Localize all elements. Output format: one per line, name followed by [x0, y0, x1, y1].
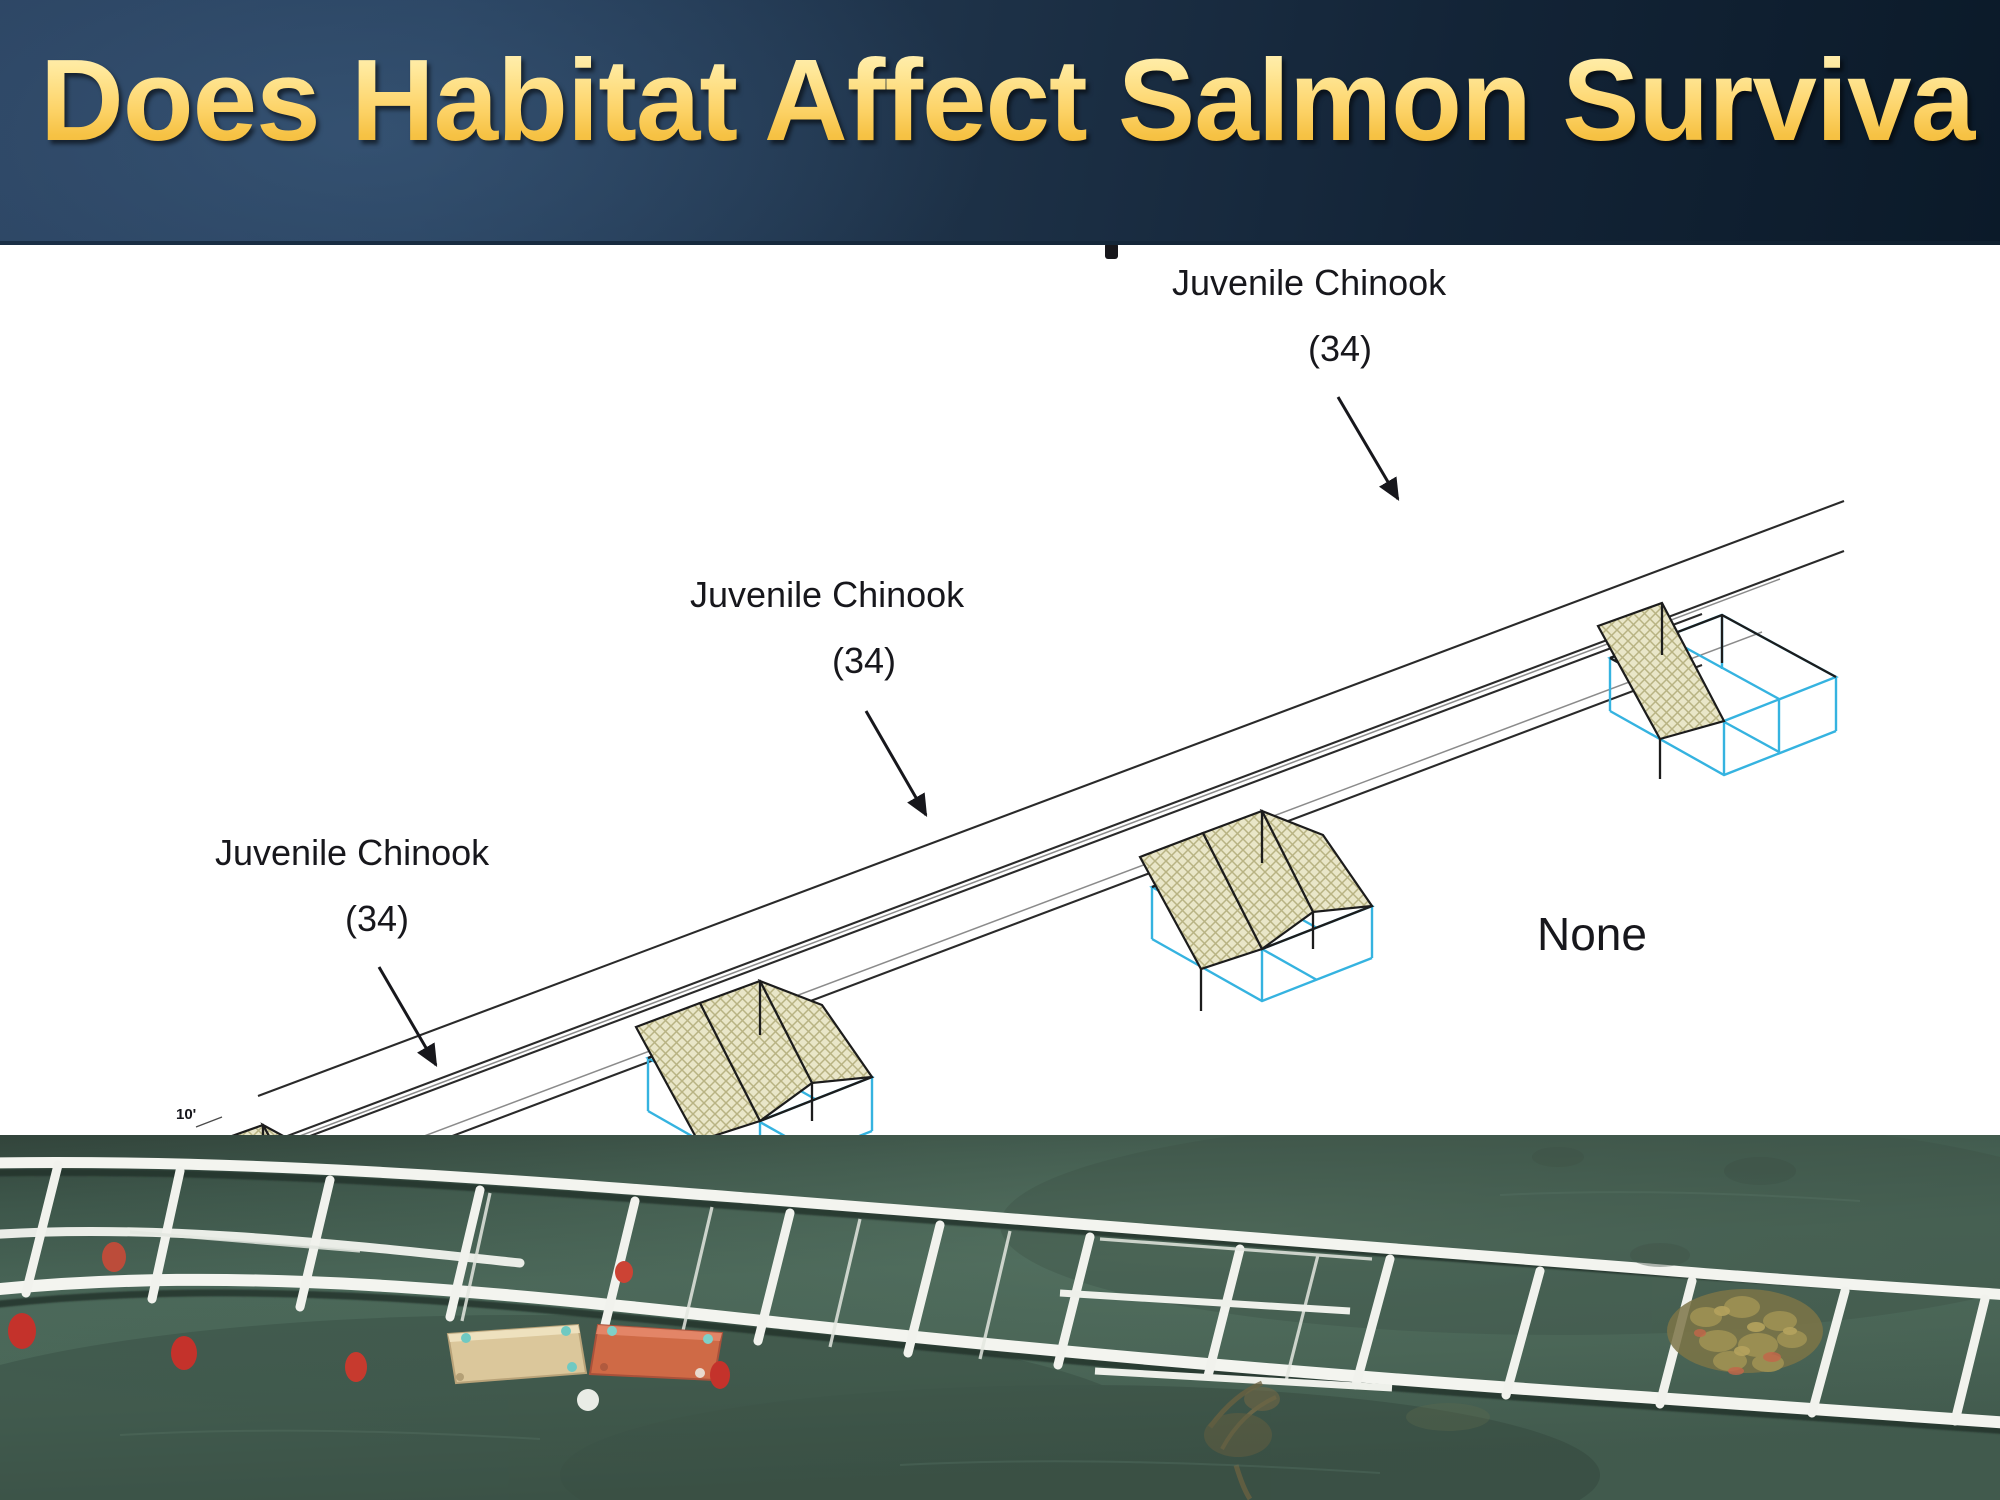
callout-right-arrow	[1338, 397, 1398, 499]
callout-middle-line2: (34)	[832, 640, 896, 681]
field-photo	[0, 1135, 2000, 1500]
callout-left-line2: (34)	[345, 898, 409, 939]
cage-middle-net-panels	[636, 981, 872, 1135]
dock-platform-tan	[448, 1325, 586, 1383]
dim-width-inner-label: 10'	[176, 1106, 196, 1123]
diagram-canvas: 10' 10' 4-5'	[0, 245, 2000, 1135]
float-ball	[577, 1389, 599, 1411]
dock-platform-orange	[590, 1325, 722, 1380]
callout-left: Juvenile Chinook (34)	[215, 832, 490, 1065]
callout-right-line1: Juvenile Chinook	[1172, 262, 1447, 303]
photo-canvas	[0, 1135, 2000, 1500]
cage-none-net-panel	[1598, 603, 1724, 779]
callout-left-line1: Juvenile Chinook	[215, 832, 490, 873]
habitat-label-none: None	[1537, 908, 1647, 960]
callout-right-line2: (34)	[1308, 328, 1372, 369]
cage-none	[1598, 603, 1836, 779]
callout-middle: Juvenile Chinook (34)	[690, 574, 965, 815]
callout-middle-line1: Juvenile Chinook	[690, 574, 965, 615]
callout-right: Juvenile Chinook (34)	[1172, 262, 1447, 499]
callout-middle-arrow	[866, 711, 926, 815]
cage-array-diagram: 10' 10' 4-5'	[0, 245, 2000, 1135]
cage-dock-net-panels	[1140, 811, 1372, 1011]
slide-root: Does Habitat Affect Salmon Survival?	[0, 0, 2000, 1500]
cage-sav: 10' 10' 4-5'	[104, 1106, 420, 1135]
cage-middle	[636, 981, 872, 1135]
callout-left-arrow	[379, 967, 436, 1065]
title-bar: Does Habitat Affect Salmon Survival?	[0, 0, 2000, 245]
flume-rails	[118, 501, 1844, 1135]
cage-dock	[1140, 811, 1372, 1011]
page-title: Does Habitat Affect Salmon Survival?	[40, 38, 1980, 163]
partial-text-fragment	[1105, 245, 1118, 259]
cage-sav-net-panel	[198, 1125, 398, 1135]
